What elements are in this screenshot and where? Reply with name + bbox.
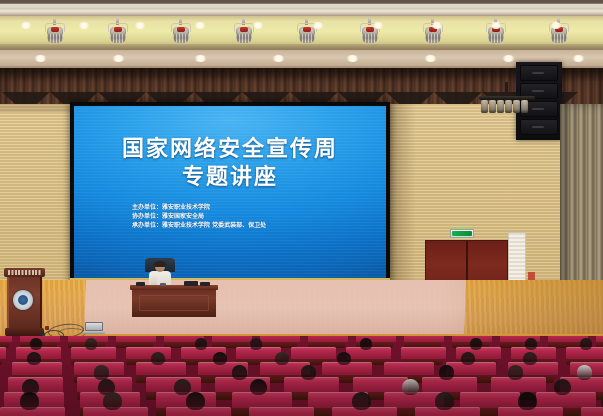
ceiling-downlight	[431, 22, 443, 29]
stage-floor-shadow	[440, 280, 603, 342]
ceiling-spotlight	[44, 18, 66, 44]
ceiling-downlight	[112, 55, 125, 62]
led-vignette	[74, 106, 386, 280]
ceiling-downlight	[502, 55, 515, 62]
stage-light-truss	[479, 92, 535, 118]
exit-sign-icon	[452, 231, 472, 236]
lectern-name-plate	[8, 270, 41, 275]
valance-shadow	[0, 68, 603, 82]
ceiling-spotlight	[107, 18, 129, 44]
ceiling-downlight	[20, 22, 32, 29]
ceiling-beam	[0, 0, 603, 4]
head-table	[130, 285, 218, 319]
floor-small-object	[45, 326, 49, 330]
ceiling-downlight	[134, 22, 146, 29]
lectern	[4, 268, 45, 338]
wall-left-shadow	[0, 104, 74, 112]
laptop-on-floor	[83, 322, 105, 334]
ceiling-downlight	[346, 55, 359, 62]
ceiling-downlight	[78, 22, 90, 29]
audience-shadow-overlay	[0, 336, 603, 416]
ceiling-downlight	[34, 55, 47, 62]
ceiling-downlight	[312, 22, 324, 29]
school-emblem-center-icon	[18, 295, 28, 305]
ceiling-downlight	[490, 22, 502, 29]
ceiling-downlight	[194, 22, 206, 29]
led-screen: 国家网络安全宣传周 专题讲座 主办单位：雅安职业技术学院协办单位：雅安国家安全局…	[74, 106, 386, 280]
ceiling-downlight	[572, 55, 585, 62]
ceiling-spotlight	[170, 18, 192, 44]
ceiling-downlight	[252, 22, 264, 29]
wall-sign-small	[528, 272, 535, 280]
ceiling-downlight	[272, 55, 285, 62]
ceiling-spotlight	[233, 18, 255, 44]
auditorium-photo: 国家网络安全宣传周 专题讲座 主办单位：雅安职业技术学院协办单位：雅安国家安全局…	[0, 0, 603, 416]
ceiling-downlight	[424, 55, 437, 62]
ceiling-downlight	[194, 55, 207, 62]
ceiling-downlight	[372, 22, 384, 29]
ceiling-downlight	[550, 22, 562, 29]
